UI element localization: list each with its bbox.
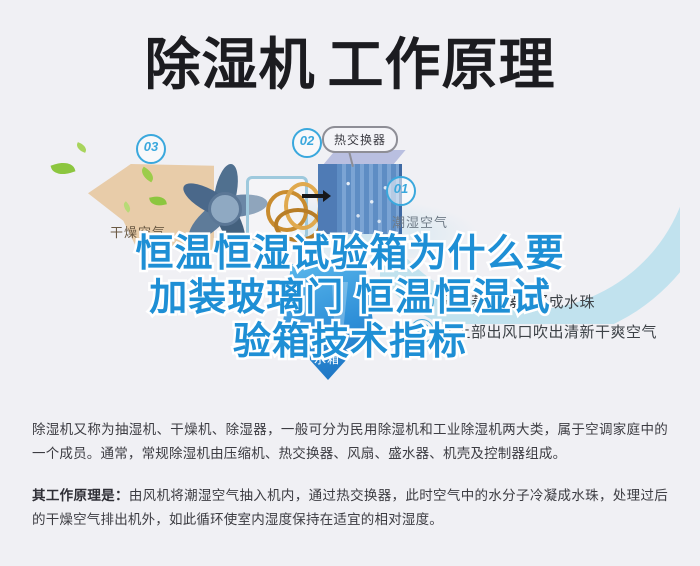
copper-pipe xyxy=(274,208,322,242)
step-caption-number: 03 xyxy=(410,319,434,343)
diagram-scene: 干燥空气 xyxy=(0,118,700,404)
step-caption-text: 从上部出风口吹出清新干爽空气 xyxy=(440,321,657,342)
hero-illustration: 除湿机工作原理 干燥空气 xyxy=(0,0,700,404)
article-paragraph-1: 除湿机又称为抽湿机、干燥机、除湿器，一般可分为民用除湿机和工业除湿机两大类，属于… xyxy=(32,418,668,466)
page-title-part1: 除湿机 xyxy=(145,33,316,96)
water-tank-label: 水箱 xyxy=(314,350,340,367)
fan-hub xyxy=(208,192,242,226)
step-caption-list: 02 经过蒸发器冷凝成水珠 03 从上部出风口吹出清新干爽空气 xyxy=(410,286,700,346)
page-root: 除湿机工作原理 干燥空气 xyxy=(0,0,700,566)
leaf-icon xyxy=(75,142,88,153)
leaf-icon xyxy=(51,159,76,178)
step-badge-01: 01 xyxy=(386,176,416,206)
water-tank-illustration: 水箱 xyxy=(282,264,374,384)
step-caption-item: 03 从上部出风口吹出清新干爽空气 xyxy=(410,316,700,346)
article-body: 除湿机又称为抽湿机、干燥机、除湿器，一般可分为民用除湿机和工业除湿机两大类，属于… xyxy=(0,418,700,550)
page-title-part2: 工作原理 xyxy=(328,33,556,96)
article-paragraph-2: 其工作原理是：由风机将潮湿空气抽入机内，通过热交换器，此时空气中的水分子冷凝成水… xyxy=(32,484,668,532)
step-caption-number: 02 xyxy=(410,289,434,313)
heat-exchanger-callout: 热交换器 xyxy=(322,126,398,153)
page-title: 除湿机工作原理 xyxy=(0,34,700,96)
step-caption-text: 经过蒸发器冷凝成水珠 xyxy=(440,291,595,312)
step-badge-02: 02 xyxy=(292,128,322,158)
airflow-arrow-icon xyxy=(302,194,324,198)
step-badge-03: 03 xyxy=(136,134,166,164)
article-paragraph-2-lead: 其工作原理是： xyxy=(32,488,129,503)
dry-air-label: 干燥空气 xyxy=(110,222,166,241)
step-caption-item: 02 经过蒸发器冷凝成水珠 xyxy=(410,286,700,316)
humid-air-label: 潮湿空气 xyxy=(392,212,448,231)
